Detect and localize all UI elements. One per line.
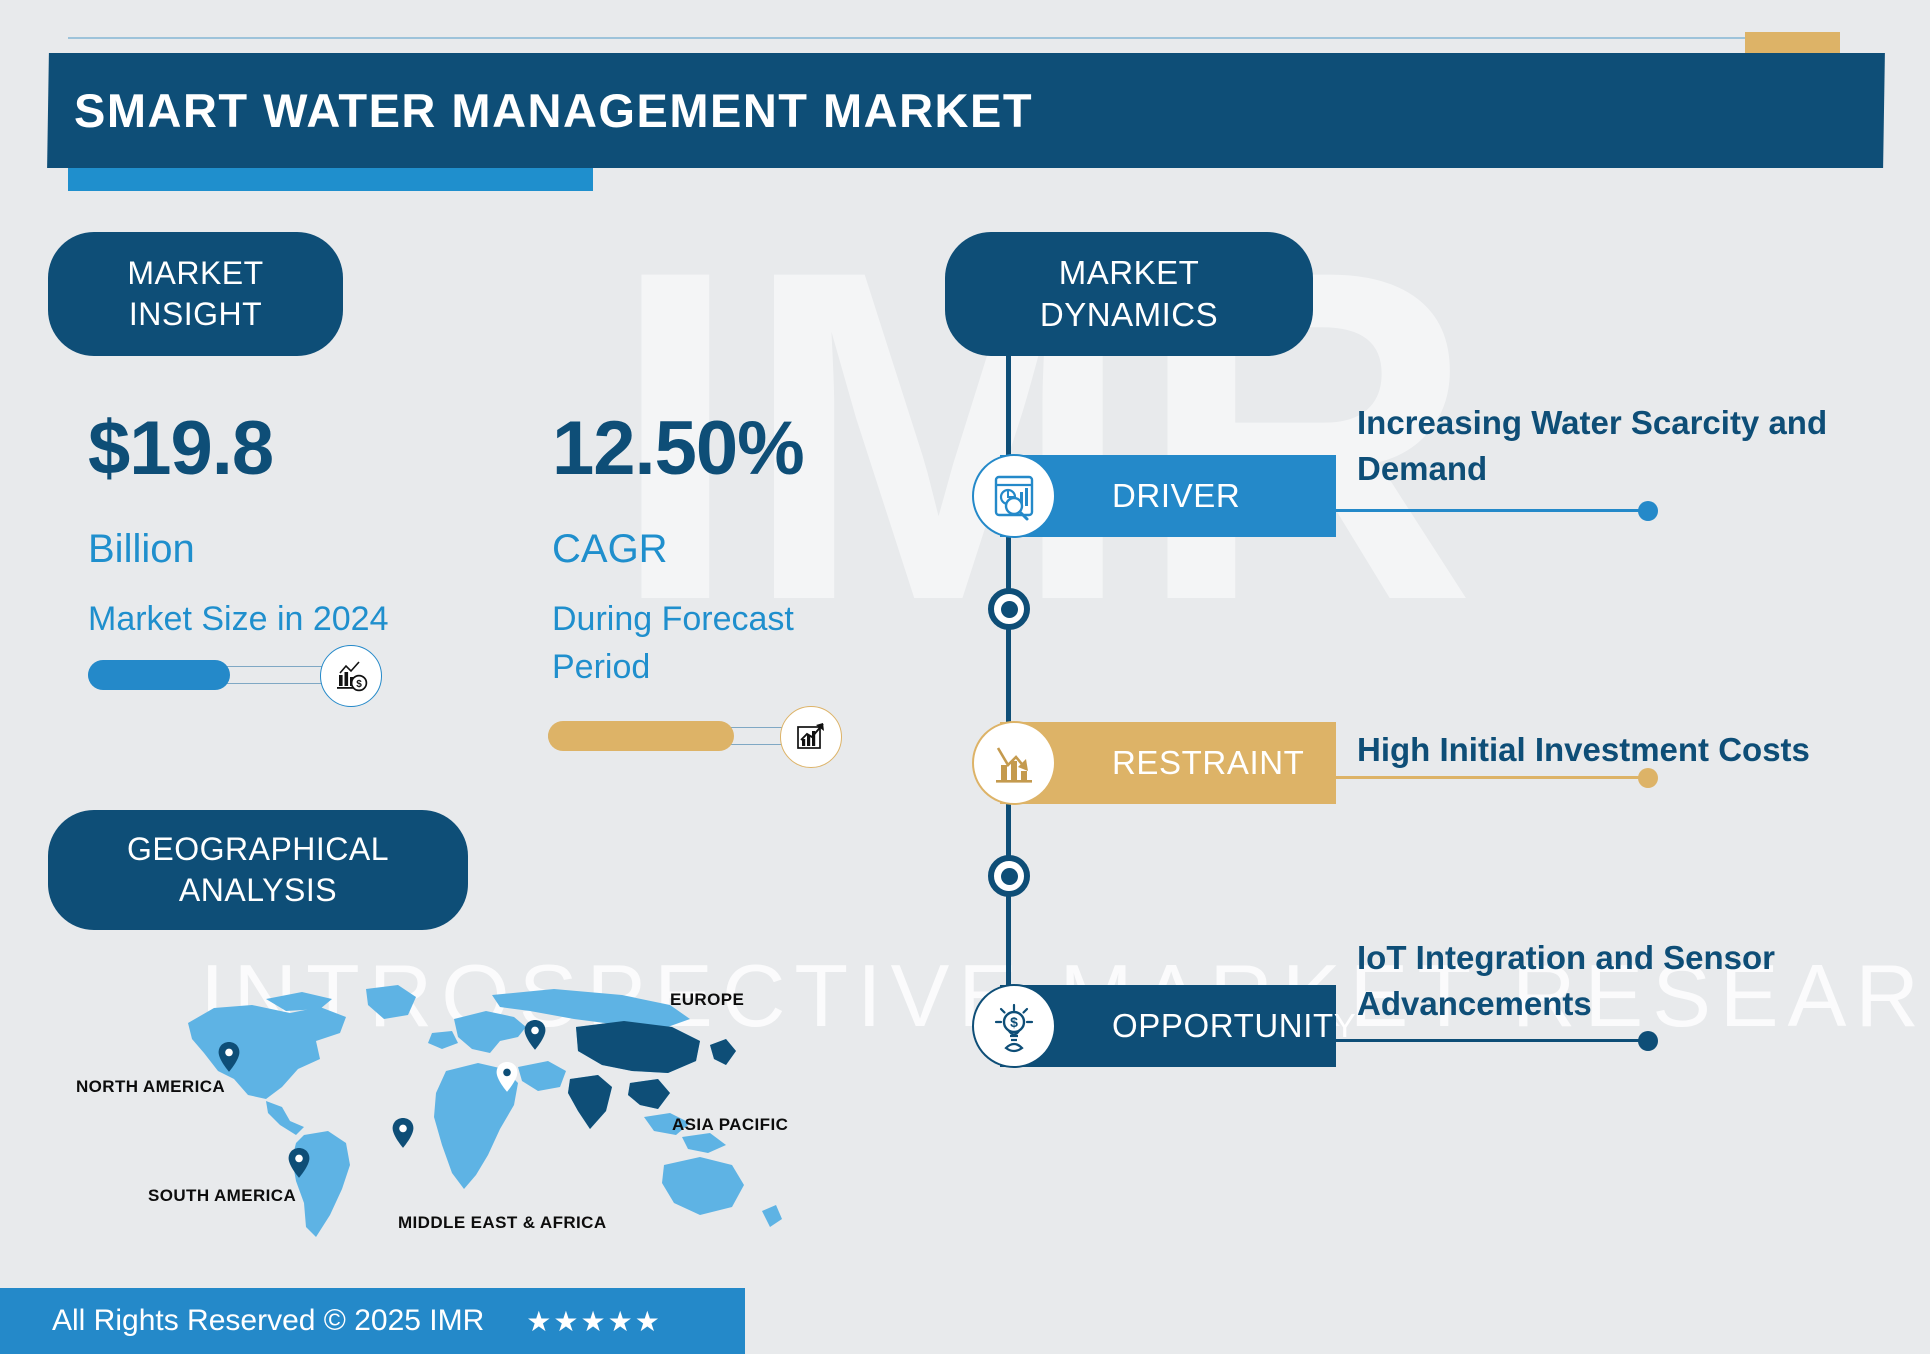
header-accent-bar [68, 168, 593, 191]
restraint-end-dot [1638, 768, 1658, 788]
dynamics-node-1 [988, 588, 1030, 630]
svg-text:$: $ [1010, 1014, 1018, 1030]
restraint-connector-line [1336, 776, 1648, 779]
map-pin-north-america [218, 1042, 240, 1072]
declining-chart-icon [972, 721, 1056, 805]
header-thin-rule [68, 37, 1818, 39]
region-label-europe: EUROPE [670, 990, 744, 1010]
dynamics-node-2 [988, 855, 1030, 897]
geographical-analysis-pill: GEOGRAPHICALANALYSIS [48, 810, 468, 930]
opportunity-text: IoT Integration and Sensor Advancements [1357, 935, 1887, 1027]
region-label-south-america: SOUTH AMERICA [148, 1186, 296, 1206]
market-size-unit: Billion [88, 527, 195, 572]
restraint-text: High Initial Investment Costs [1357, 727, 1887, 773]
geographical-analysis-label: GEOGRAPHICALANALYSIS [127, 829, 389, 911]
market-insight-pill: MARKETINSIGHT [48, 232, 343, 356]
cagr-value: 12.50% [552, 405, 804, 492]
lightbulb-dollar-icon: $ [972, 984, 1056, 1068]
copyright-text: All Rights Reserved © 2025 IMR [52, 1304, 484, 1338]
cagr-unit: CAGR [552, 527, 668, 572]
market-size-value: $19.8 [88, 405, 273, 492]
restraint-label: RESTRAINT [1112, 744, 1304, 782]
driver-connector-line [1336, 509, 1648, 512]
market-size-desc: Market Size in 2024 [88, 595, 418, 643]
footer-bar: All Rights Reserved © 2025 IMR ★★★★★ [0, 1288, 745, 1354]
page-title-wrap: SMART WATER MANAGEMENT MARKET [48, 53, 1884, 168]
driver-end-dot [1638, 501, 1658, 521]
growth-arrow-icon [780, 706, 842, 768]
market-dynamics-label: MARKETDYNAMICS [1040, 252, 1218, 336]
map-pin-south-america [288, 1148, 310, 1178]
infographic-page: IMR INTROSPECTIVE MARKET RESEARCH SMART … [0, 0, 1930, 1354]
opportunity-label: OPPORTUNITY [1112, 1007, 1356, 1045]
market-dynamics-pill: MARKETDYNAMICS [945, 232, 1313, 356]
driver-text: Increasing Water Scarcity and Demand [1357, 400, 1887, 492]
svg-text:$: $ [356, 679, 362, 690]
region-label-north-america: NORTH AMERICA [76, 1077, 225, 1097]
market-insight-label: MARKETINSIGHT [127, 253, 263, 335]
region-label-middle-east-africa: MIDDLE EAST & AFRICA [398, 1213, 607, 1233]
bar-chart-dollar-icon: $ [320, 645, 382, 707]
analytics-search-icon [972, 454, 1056, 538]
opportunity-end-dot [1638, 1031, 1658, 1051]
map-pin-asia-pacific [496, 1062, 518, 1092]
cagr-progress-fill [548, 721, 734, 751]
map-pin-middle-east-africa [392, 1118, 414, 1148]
region-label-asia-pacific: ASIA PACIFIC [672, 1115, 788, 1135]
cagr-desc: During Forecast Period [552, 595, 852, 692]
opportunity-connector-line [1336, 1039, 1648, 1042]
market-size-progress-fill [88, 660, 230, 690]
rating-stars-icon: ★★★★★ [526, 1305, 662, 1338]
driver-label: DRIVER [1112, 477, 1240, 515]
map-pin-europe [524, 1020, 546, 1050]
page-title: SMART WATER MANAGEMENT MARKET [74, 83, 1033, 138]
